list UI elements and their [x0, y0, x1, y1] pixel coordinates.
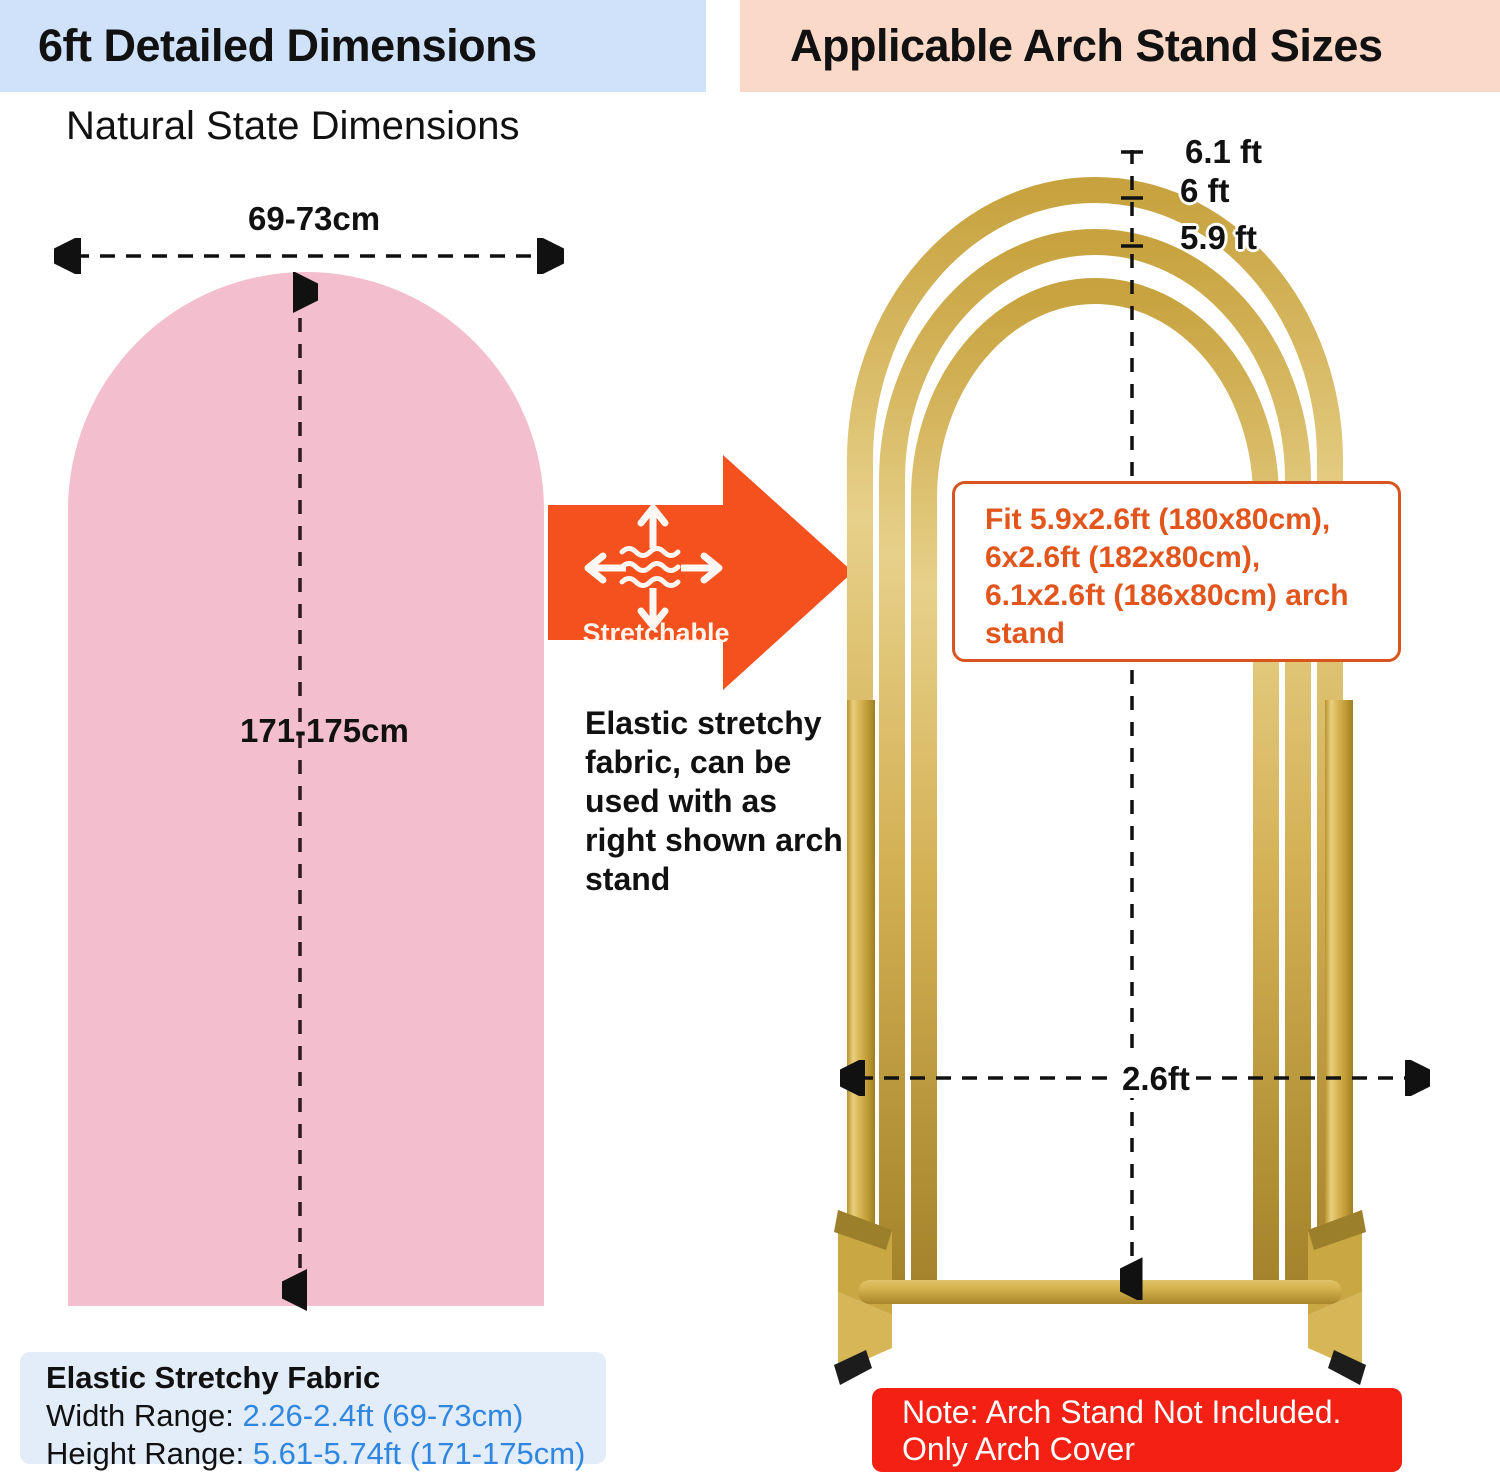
fabric-height-label: Height Range: [46, 1436, 244, 1471]
fabric-height-row: Height Range: 5.61-5.74ft (171-175cm) [46, 1436, 585, 1472]
note-text: Note: Arch Stand Not Included. Only Arch… [902, 1394, 1392, 1469]
fabric-height-value: 5.61-5.74ft (171-175cm) [253, 1436, 586, 1471]
stretchable-label: Stretchable [566, 618, 746, 649]
fit-sizes-text: Fit 5.9x2.6ft (180x80cm), 6x2.6ft (182x8… [985, 501, 1385, 653]
fabric-info-box: Elastic Stretchy Fabric Width Range: 2.2… [20, 1352, 606, 1464]
height-dimension-label: 171-175cm [240, 712, 409, 750]
fit-sizes-box: Fit 5.9x2.6ft (180x80cm), 6x2.6ft (182x8… [952, 481, 1401, 662]
fabric-width-row: Width Range: 2.26-2.4ft (69-73cm) [46, 1398, 523, 1434]
header-bar-right: Applicable Arch Stand Sizes [740, 0, 1500, 92]
arch-width-label: 2.6ft [1118, 1060, 1194, 1098]
page-title-right: Applicable Arch Stand Sizes [790, 20, 1382, 72]
arch-center-dashed-line [1120, 140, 1144, 1300]
arch-height-label-61: 6.1 ft [1185, 133, 1262, 171]
arch-stand-illustration [800, 100, 1500, 1400]
width-dimension-label: 69-73cm [248, 200, 380, 238]
fabric-info-title: Elastic Stretchy Fabric [46, 1360, 380, 1396]
header-bar-left: 6ft Detailed Dimensions [0, 0, 706, 92]
width-dimension-line [54, 238, 564, 274]
arch-height-label-60: 6 ft [1180, 172, 1230, 210]
fabric-width-value: 2.26-2.4ft (69-73cm) [242, 1398, 523, 1433]
subtitle-natural-state: Natural State Dimensions [66, 104, 520, 149]
page-title-left: 6ft Detailed Dimensions [38, 20, 537, 72]
arch-height-label-59: 5.9 ft [1180, 219, 1257, 257]
fabric-width-label: Width Range: [46, 1398, 234, 1433]
height-dimension-line [282, 272, 318, 1312]
note-box: Note: Arch Stand Not Included. Only Arch… [872, 1388, 1402, 1472]
